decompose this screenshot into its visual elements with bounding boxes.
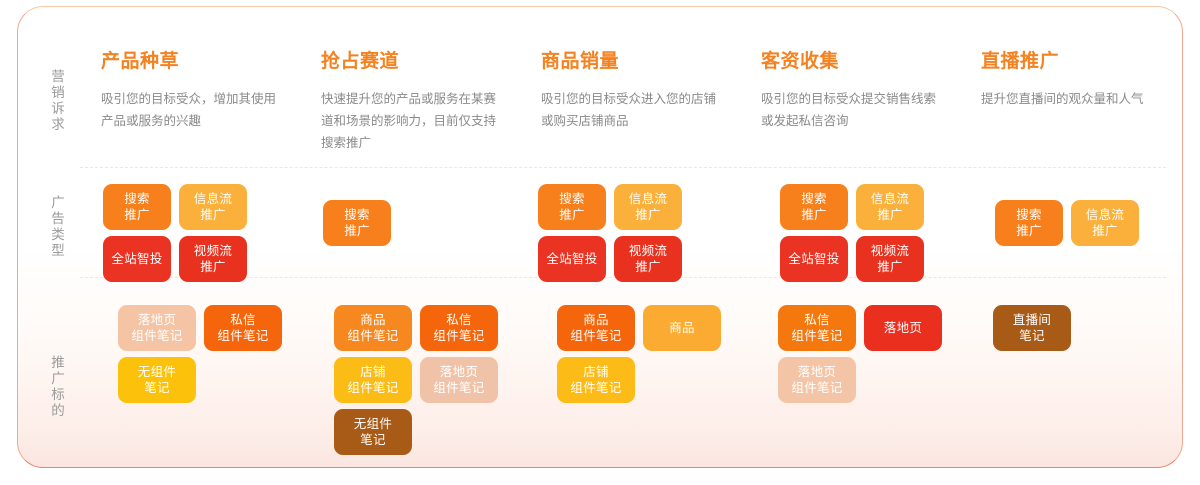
targets-lead-collection: 私信 组件笔记 落地页 落地页 组件笔记	[778, 305, 952, 403]
column-title: 客资收集	[761, 49, 961, 75]
target-tag[interactable]: 私信 组件笔记	[204, 305, 282, 351]
row-label-marketing-appeal: 营销 诉求	[45, 69, 71, 133]
target-tag[interactable]: 商品	[643, 305, 721, 351]
column-title: 抢占赛道	[321, 49, 521, 75]
ad-type-tag[interactable]: 搜索 推广	[323, 200, 391, 246]
matrix-card: 营销 诉求 广告 类型 推广 标的 产品种草 吸引您的目标受众，增加其使用产品或…	[17, 6, 1183, 468]
ad-type-tag[interactable]: 搜索 推广	[538, 184, 606, 230]
ad-types-lead-collection: 搜索 推广 信息流 推广 全站智投 视频流 推广	[780, 184, 950, 282]
column-description: 吸引您的目标受众提交销售线索或发起私信咨询	[761, 88, 937, 132]
ad-type-tag[interactable]: 搜索 推广	[780, 184, 848, 230]
targets-seize-track: 商品 组件笔记 私信 组件笔记 店铺 组件笔记 落地页 组件笔记 无组件 笔记	[334, 305, 508, 455]
column-header-product-seeding: 产品种草 吸引您的目标受众，增加其使用产品或服务的兴趣	[101, 49, 301, 132]
target-tag[interactable]: 落地页 组件笔记	[778, 357, 856, 403]
row-label-promotion-target: 推广 标的	[45, 355, 71, 419]
ad-type-tag[interactable]: 信息流 推广	[1071, 200, 1139, 246]
targets-live-promotion: 直播间 笔记	[993, 305, 1167, 351]
target-tag[interactable]: 店铺 组件笔记	[334, 357, 412, 403]
ad-type-tag[interactable]: 视频流 推广	[179, 236, 247, 282]
target-tag[interactable]: 商品 组件笔记	[557, 305, 635, 351]
target-tag[interactable]: 商品 组件笔记	[334, 305, 412, 351]
column-header-seize-track: 抢占赛道 快速提升您的产品或服务在某赛道和场景的影响力，目前仅支持搜索推广	[321, 49, 521, 154]
target-tag[interactable]: 无组件 笔记	[118, 357, 196, 403]
ad-type-tag[interactable]: 信息流 推广	[856, 184, 924, 230]
column-description: 吸引您的目标受众，增加其使用产品或服务的兴趣	[101, 88, 277, 132]
target-tag[interactable]: 私信 组件笔记	[420, 305, 498, 351]
target-tag[interactable]: 直播间 笔记	[993, 305, 1071, 351]
ad-types-live-promotion: 搜索 推广 信息流 推广	[995, 200, 1165, 246]
target-tag[interactable]: 私信 组件笔记	[778, 305, 856, 351]
ad-type-tag[interactable]: 搜索 推广	[103, 184, 171, 230]
target-tag[interactable]: 落地页	[864, 305, 942, 351]
column-header-live-promotion: 直播推广 提升您直播间的观众量和人气	[981, 49, 1181, 110]
ad-type-tag[interactable]: 视频流 推广	[614, 236, 682, 282]
ad-type-tag[interactable]: 全站智投	[538, 236, 606, 282]
row-separator-1	[80, 167, 1166, 168]
column-title: 直播推广	[981, 49, 1181, 75]
ad-type-tag[interactable]: 全站智投	[103, 236, 171, 282]
column-header-lead-collection: 客资收集 吸引您的目标受众提交销售线索或发起私信咨询	[761, 49, 961, 132]
ad-types-seize-track: 搜索 推广	[323, 200, 493, 246]
ad-type-tag[interactable]: 全站智投	[780, 236, 848, 282]
ad-type-tag[interactable]: 信息流 推广	[614, 184, 682, 230]
column-description: 吸引您的目标受众进入您的店铺或购买店铺商品	[541, 88, 717, 132]
column-description: 提升您直播间的观众量和人气	[981, 88, 1157, 110]
ad-types-product-sales: 搜索 推广 信息流 推广 全站智投 视频流 推广	[538, 184, 708, 282]
ad-type-tag[interactable]: 搜索 推广	[995, 200, 1063, 246]
targets-product-sales: 商品 组件笔记 商品 店铺 组件笔记	[557, 305, 731, 403]
ad-type-tag[interactable]: 信息流 推广	[179, 184, 247, 230]
target-tag[interactable]: 无组件 笔记	[334, 409, 412, 455]
column-description: 快速提升您的产品或服务在某赛道和场景的影响力，目前仅支持搜索推广	[321, 88, 497, 154]
ad-type-tag[interactable]: 视频流 推广	[856, 236, 924, 282]
comparison-matrix-page: 营销 诉求 广告 类型 推广 标的 产品种草 吸引您的目标受众，增加其使用产品或…	[0, 0, 1200, 485]
ad-types-product-seeding: 搜索 推广 信息流 推广 全站智投 视频流 推广	[103, 184, 273, 282]
column-header-product-sales: 商品销量 吸引您的目标受众进入您的店铺或购买店铺商品	[541, 49, 741, 132]
targets-product-seeding: 落地页 组件笔记 私信 组件笔记 无组件 笔记	[118, 305, 292, 403]
row-label-ad-type: 广告 类型	[45, 195, 71, 259]
target-tag[interactable]: 店铺 组件笔记	[557, 357, 635, 403]
column-title: 商品销量	[541, 49, 741, 75]
target-tag[interactable]: 落地页 组件笔记	[420, 357, 498, 403]
column-title: 产品种草	[101, 49, 301, 75]
target-tag[interactable]: 落地页 组件笔记	[118, 305, 196, 351]
